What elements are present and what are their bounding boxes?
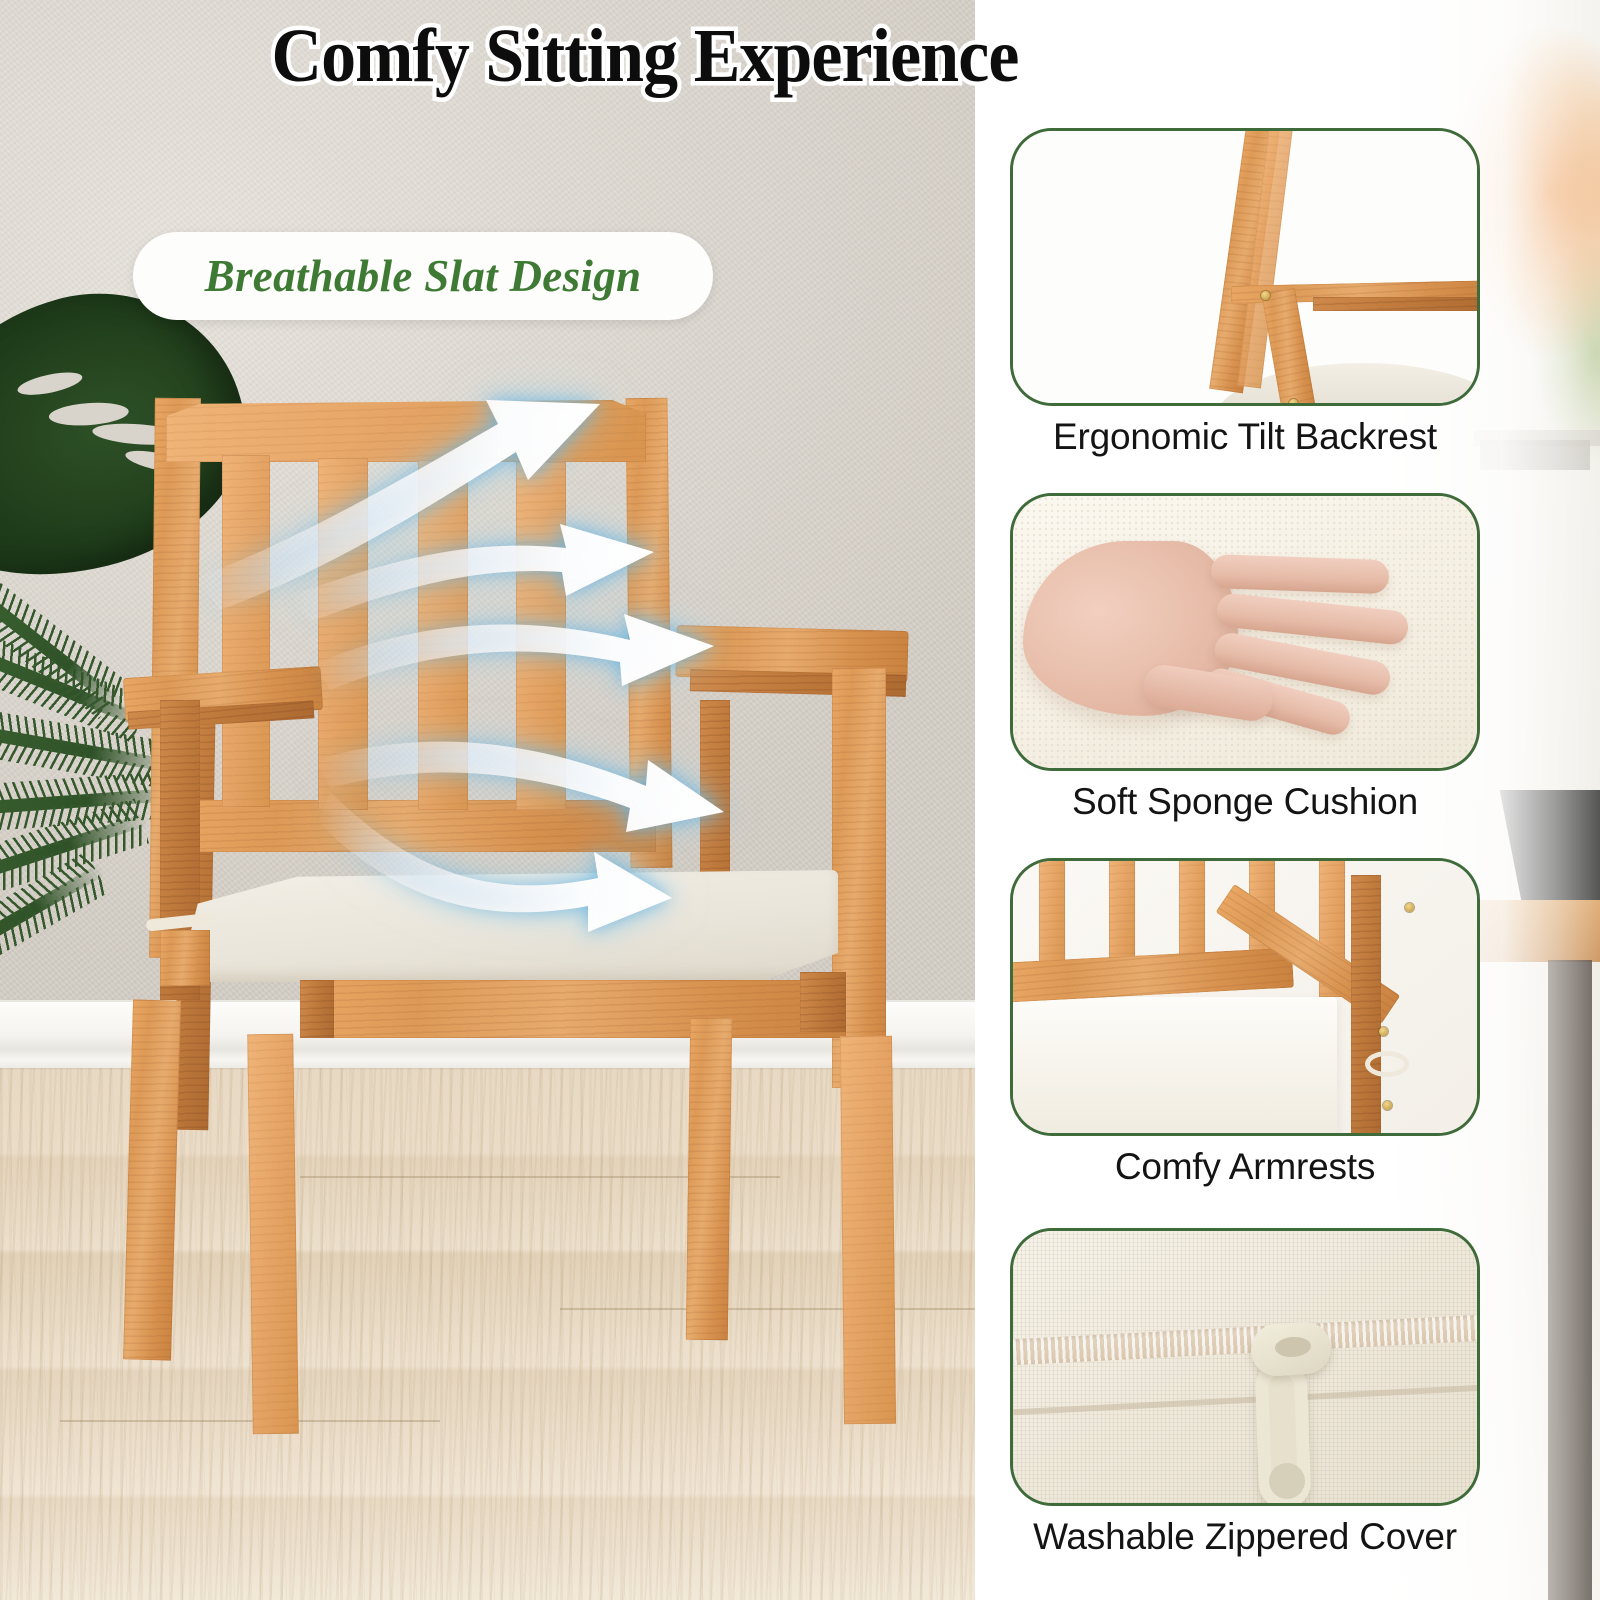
feature-caption-3: Comfy Armrests [1010,1136,1480,1198]
feature-item-soft-sponge-cushion: Soft Sponge Cushion [1010,493,1480,833]
feature-thumbnail-2 [1010,493,1480,771]
feature-caption-1: Ergonomic Tilt Backrest [1010,406,1480,468]
screw-icon [1289,399,1298,406]
feature-thumbnail-3 [1010,858,1480,1136]
feature-thumbnail-1 [1010,128,1480,406]
feature-item-ergonomic-tilt-backrest: Ergonomic Tilt Backrest [1010,128,1480,468]
page-title: Comfy Sitting Experience [52,8,1239,104]
infographic-canvas: Breathable Slat Design [0,0,1600,1600]
screw-icon [1383,1101,1392,1110]
feature-item-washable-zippered-cover: Washable Zippered Cover [1010,1228,1480,1568]
feature-thumbnail-column: Ergonomic Tilt Backrest Soft Sponge Cush… [975,0,1600,1600]
white-overlay-fade [1500,0,1600,1600]
hero-photo-panel: Breathable Slat Design [0,0,975,1600]
screw-icon [1405,903,1414,912]
breathable-slat-design-badge: Breathable Slat Design [133,232,713,320]
screw-icon [1379,1027,1388,1036]
feature-caption-4: Washable Zippered Cover [1010,1506,1480,1568]
seat-cushion [178,870,838,982]
cushion-tie-loop [1365,1051,1409,1077]
feature-item-comfy-armrests: Comfy Armrests [1010,858,1480,1198]
feature-caption-2: Soft Sponge Cushion [1010,771,1480,833]
badge-label: Breathable Slat Design [205,250,642,302]
feature-thumbnail-4 [1010,1228,1480,1506]
screw-icon [1261,291,1270,300]
